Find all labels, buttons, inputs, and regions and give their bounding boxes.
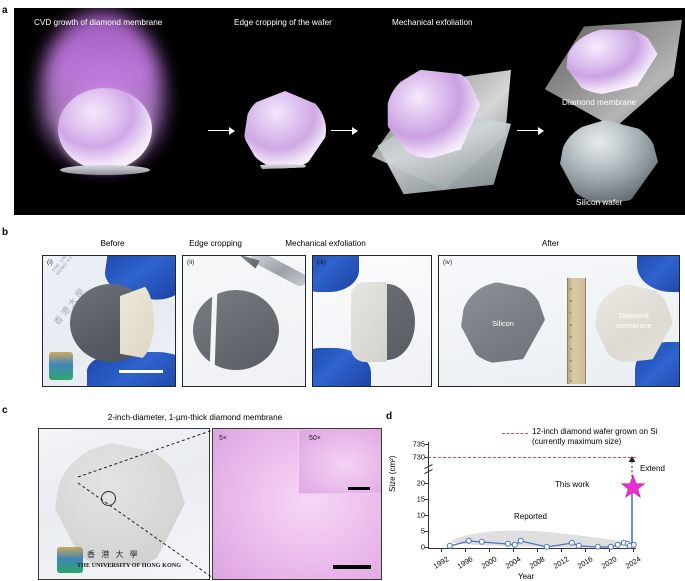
panel-a-letter: a [2,6,8,16]
wafer-edge-cropped [244,91,326,169]
subpanel-label-iv: (iv) [443,259,452,266]
panel-b-title-mechanical-exfoliation: Mechanical exfoliation [238,239,413,248]
plot-area: 735 730 20 15 10 5 0 Reported [428,442,636,549]
zoom-region-marker [101,491,116,506]
x-tick-2000: 2000 [480,554,499,570]
x-tick-2012: 2012 [552,554,571,570]
panel-a-schematic: CVD growth of diamond membrane Edge crop… [14,8,685,215]
ruler-tick-9: 9 [569,288,573,290]
step-label-cvd-growth: CVD growth of diamond membrane [34,18,162,27]
x-tickmark-1992 [441,549,442,552]
x-tickmark-1996 [465,549,466,552]
y-tick-730: 730 [413,453,425,462]
y-tick-10: 10 [417,511,425,520]
ruler-tick-2: 2 [569,370,573,372]
arrow-step-3-4 [517,130,543,131]
this-work-annotation: This work [555,480,589,489]
photo-after: Silicon 9 8 7 6 5 4 3 2 1 Diamond membra… [438,255,680,387]
x-axis-label: Year [518,572,534,581]
ruler-tick-8: 8 [569,300,573,302]
subpanel-label-iii: (iii) [317,259,326,266]
membrane-photo: 香 港 大 學 THE UNIVERSITY OF HONG KONG [38,428,210,580]
ruler-tick-3: 3 [569,360,573,362]
diamond-membrane-label-line2: membrane [595,322,673,331]
ruler-tick-7: 7 [569,312,573,314]
x-tick-2008: 2008 [528,554,547,570]
step-label-edge-cropping: Edge cropping of the wafer [234,18,332,27]
x-tick-1996: 1996 [456,554,475,570]
glove-top-right-iv [637,255,680,292]
legend-dash-sample [502,433,528,434]
arrow-step-2-3 [331,130,357,131]
magnification-label-5x: 5× [219,435,227,442]
x-tickmark-2020 [609,549,610,552]
magnification-label-50x: 50× [309,435,321,442]
x-tick-2016: 2016 [576,554,595,570]
pen-body [249,255,306,288]
output-label-diamond-membrane: Diamond membrane [562,98,636,107]
x-tickmark-2024 [633,549,634,552]
photo-edge-cropping: (ii) [182,255,306,387]
x-tickmark-2016 [585,549,586,552]
ruler-tick-6: 6 [569,324,573,326]
hku-logo-en-c: THE UNIVERSITY OF HONG KONG [77,562,181,569]
ruler-tick-1: 1 [569,380,573,382]
y-tick-735: 735 [413,440,425,449]
panel-b-title-after: After [418,239,683,248]
x-tickmark-2000 [489,549,490,552]
x-tick-2004: 2004 [504,554,523,570]
panel-c-title: 2-inch-diameter, 1-µm-thick diamond memb… [20,413,370,422]
wafer-photo-ii [193,290,279,370]
silicon-wafer-label: Silicon [461,320,545,329]
data-point [631,542,637,548]
diamond-membrane-label-line1: Diamond [595,312,673,321]
x-tickmark-2004 [513,549,514,552]
extend-annotation: Extend [640,464,665,473]
arrow-step-1-2 [208,130,234,131]
photo-mechanical-exfoliation: (iii) [312,255,432,387]
scale-bar-50x [348,487,370,490]
ruler-tick-4: 4 [569,348,573,350]
diamond-membrane-iii [351,282,387,362]
hku-logo-cn-c: 香 港 大 學 [87,549,140,560]
data-point [595,544,601,550]
silicon-wafer-iv: Silicon [461,282,545,364]
wafer-in-chamber [58,88,152,170]
panel-b-photographs: Before Edge cropping Mechanical exfoliat… [0,222,685,392]
this-work-star-icon [621,475,645,499]
y-axis-label: Size (cm²) [388,456,397,492]
hku-crest-logo-c [57,547,83,573]
subpanel-label-ii: (ii) [187,259,194,266]
y-tick-0: 0 [421,543,425,552]
ruler: 9 8 7 6 5 4 3 2 1 [567,278,586,384]
y-tick-5: 5 [421,527,425,536]
hku-crest-logo [49,352,73,380]
panel-c-membrane: 2-inch-diameter, 1-µm-thick diamond memb… [0,400,380,581]
micrograph-5x: 5× 50× [212,428,382,580]
ruler-tick-5: 5 [569,336,573,338]
panel-d-chart: 12-inch diamond wafer grown on Si (curre… [380,400,685,581]
legend-label-line1: 12-inch diamond wafer grown on Si [532,427,657,436]
scale-bar-5x [333,565,371,569]
output-label-silicon-wafer: Silicon wafer [576,198,622,207]
x-tickmark-2012 [561,549,562,552]
x-tick-1992: 1992 [432,554,451,570]
x-tick-2024: 2024 [624,554,643,570]
photo-before: THE UNIVERSITY OF HONG KONG 香 港 大 學 (i) [42,255,176,387]
data-point [544,544,550,550]
silicon-wafer-disc [560,120,658,204]
subpanel-label-i: (i) [47,259,53,266]
x-tickmark-2008 [537,549,538,552]
x-tick-2020: 2020 [600,554,619,570]
data-line-reported [428,442,636,549]
y-tick-20: 20 [417,479,425,488]
y-tick-15: 15 [417,495,425,504]
step-label-mechanical-exfoliation: Mechanical exfoliation [392,18,473,27]
scale-bar-i [119,370,163,373]
